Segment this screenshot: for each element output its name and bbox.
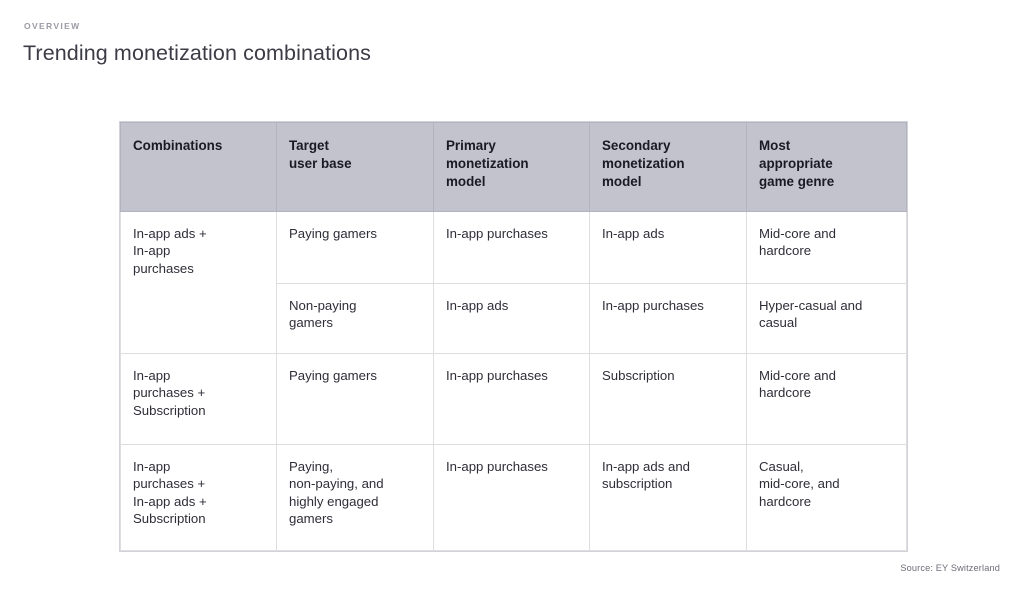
cell-primary-model: In-app ads bbox=[434, 284, 590, 354]
cell-line: In-app ads bbox=[446, 297, 577, 314]
column-header-primary-monetization-model: Primarymonetizationmodel bbox=[434, 123, 590, 212]
cell-secondary-model: Subscription bbox=[590, 354, 747, 445]
table-header-row: Combinations Targetuser base Primarymone… bbox=[121, 123, 907, 212]
table-body: In-app ads +In-apppurchases Paying gamer… bbox=[121, 212, 907, 551]
cell-line: Primary bbox=[446, 137, 577, 155]
cell-combination: In-apppurchases +Subscription bbox=[121, 354, 277, 445]
cell-line: In-app purchases bbox=[446, 458, 577, 475]
column-header-secondary-monetization-model: Secondarymonetizationmodel bbox=[590, 123, 747, 212]
cell-line: Paying gamers bbox=[289, 367, 421, 384]
cell-game-genre: Casual,mid-core, andhardcore bbox=[747, 445, 907, 551]
cell-line: monetization bbox=[602, 155, 734, 173]
cell-line: In-app ads + bbox=[133, 225, 264, 242]
cell-line: subscription bbox=[602, 475, 734, 492]
cell-line: In-app ads + bbox=[133, 493, 264, 510]
cell-line: gamers bbox=[289, 314, 421, 331]
cell-line: purchases + bbox=[133, 384, 264, 401]
source-note: Source: EY Switzerland bbox=[900, 563, 1000, 573]
table-row: In-app ads +In-apppurchases Paying gamer… bbox=[121, 212, 907, 284]
cell-line: Secondary bbox=[602, 137, 734, 155]
cell-line: Subscription bbox=[133, 510, 264, 527]
table-row: In-apppurchases +In-app ads +Subscriptio… bbox=[121, 445, 907, 551]
cell-line: non-paying, and bbox=[289, 475, 421, 492]
column-header-combinations: Combinations bbox=[121, 123, 277, 212]
page-header: OVERVIEW Trending monetization combinati… bbox=[23, 22, 371, 65]
table-header: Combinations Targetuser base Primarymone… bbox=[121, 123, 907, 212]
cell-line: In-app ads and bbox=[602, 458, 734, 475]
cell-line: Non-paying bbox=[289, 297, 421, 314]
cell-game-genre: Mid-core andhardcore bbox=[747, 212, 907, 284]
cell-line: model bbox=[602, 173, 734, 191]
cell-line: Subscription bbox=[133, 402, 264, 419]
cell-primary-model: In-app purchases bbox=[434, 212, 590, 284]
cell-line: gamers bbox=[289, 510, 421, 527]
cell-line: hardcore bbox=[759, 493, 894, 510]
cell-target-user-base: Paying gamers bbox=[277, 354, 434, 445]
cell-line: Paying gamers bbox=[289, 225, 421, 242]
cell-secondary-model: In-app ads bbox=[590, 212, 747, 284]
table-row: In-apppurchases +Subscription Paying gam… bbox=[121, 354, 907, 445]
cell-target-user-base: Non-payinggamers bbox=[277, 284, 434, 354]
cell-line: In-app bbox=[133, 458, 264, 475]
cell-line: Casual, bbox=[759, 458, 894, 475]
cell-line: In-app purchases bbox=[446, 367, 577, 384]
cell-line: hardcore bbox=[759, 384, 894, 401]
cell-line: In-app bbox=[133, 242, 264, 259]
monetization-combinations-table-container: Combinations Targetuser base Primarymone… bbox=[120, 122, 906, 551]
cell-line: user base bbox=[289, 155, 421, 173]
cell-game-genre: Hyper-casual andcasual bbox=[747, 284, 907, 354]
cell-line: model bbox=[446, 173, 577, 191]
cell-line: hardcore bbox=[759, 242, 894, 259]
cell-line: Mid-core and bbox=[759, 225, 894, 242]
cell-game-genre: Mid-core andhardcore bbox=[747, 354, 907, 445]
cell-line: Combinations bbox=[133, 137, 264, 155]
page-title: Trending monetization combinations bbox=[23, 41, 371, 66]
cell-line: mid-core, and bbox=[759, 475, 894, 492]
cell-line: appropriate bbox=[759, 155, 894, 173]
cell-line: Mid-core and bbox=[759, 367, 894, 384]
cell-secondary-model: In-app ads andsubscription bbox=[590, 445, 747, 551]
cell-primary-model: In-app purchases bbox=[434, 445, 590, 551]
cell-combination: In-app ads +In-apppurchases bbox=[121, 212, 277, 354]
cell-target-user-base: Paying gamers bbox=[277, 212, 434, 284]
cell-target-user-base: Paying,non-paying, andhighly engagedgame… bbox=[277, 445, 434, 551]
cell-line: In-app purchases bbox=[602, 297, 734, 314]
cell-line: purchases + bbox=[133, 475, 264, 492]
cell-line: Subscription bbox=[602, 367, 734, 384]
column-header-most-appropriate-game-genre: Mostappropriategame genre bbox=[747, 123, 907, 212]
cell-line: highly engaged bbox=[289, 493, 421, 510]
cell-primary-model: In-app purchases bbox=[434, 354, 590, 445]
column-header-target-user-base: Targetuser base bbox=[277, 123, 434, 212]
cell-line: In-app bbox=[133, 367, 264, 384]
cell-line: In-app ads bbox=[602, 225, 734, 242]
cell-combination: In-apppurchases +In-app ads +Subscriptio… bbox=[121, 445, 277, 551]
cell-line: Target bbox=[289, 137, 421, 155]
monetization-combinations-table: Combinations Targetuser base Primarymone… bbox=[120, 122, 907, 551]
cell-line: In-app purchases bbox=[446, 225, 577, 242]
cell-line: Most bbox=[759, 137, 894, 155]
cell-line: purchases bbox=[133, 260, 264, 277]
cell-line: Hyper-casual and bbox=[759, 297, 894, 314]
eyebrow-label: OVERVIEW bbox=[24, 22, 371, 31]
cell-line: Paying, bbox=[289, 458, 421, 475]
cell-line: casual bbox=[759, 314, 894, 331]
cell-line: monetization bbox=[446, 155, 577, 173]
cell-secondary-model: In-app purchases bbox=[590, 284, 747, 354]
cell-line: game genre bbox=[759, 173, 894, 191]
